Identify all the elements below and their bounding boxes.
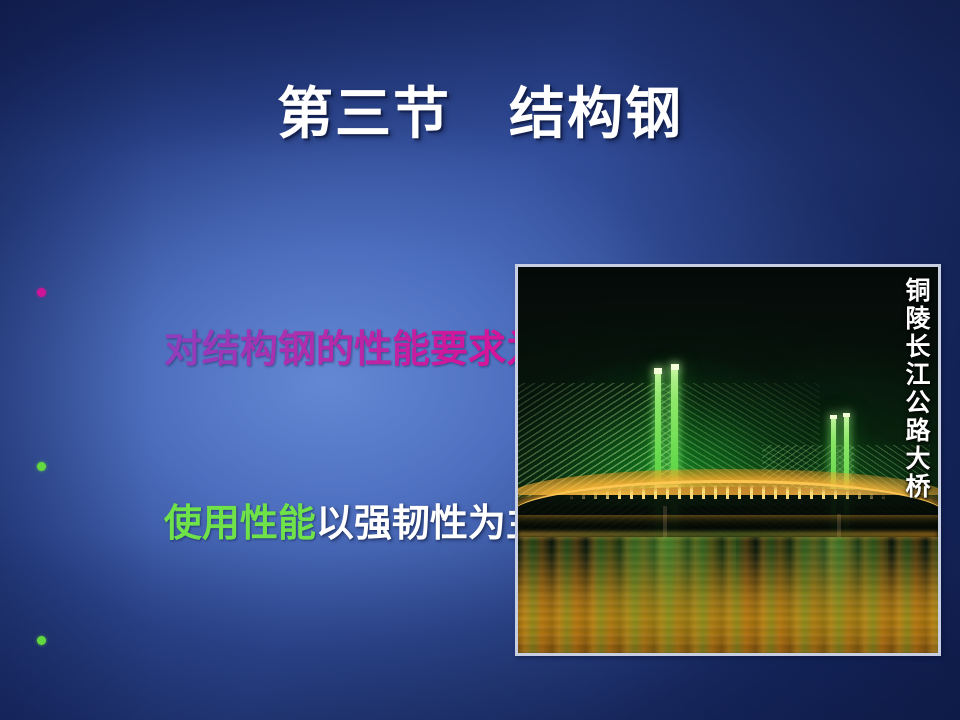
bullet-dot-icon (24, 436, 58, 471)
slide-title: 第三节 结构钢 (0, 82, 960, 146)
water-horizon-line (518, 532, 938, 537)
bullet-list: 对结构钢的性能要求为： 使用性能以强韧性为主。 工艺性能以可焊性、淬透 性为主。… (24, 262, 524, 720)
bullet-text-3: 工艺性能以可焊性、淬透 性为主。 (58, 610, 524, 720)
bridge-photo-frame: 铜陵长江公路大桥 (515, 264, 941, 656)
bullet-item-2: 使用性能以强韧性为主。 (24, 436, 524, 610)
bullet-dot-icon (24, 262, 58, 297)
bullet-item-3: 工艺性能以可焊性、淬透 性为主。 (24, 610, 524, 720)
pylon-beacon-light (843, 413, 850, 417)
bullet-text-1: 对结构钢的性能要求为： (58, 262, 582, 436)
bridge-deck-lighting (518, 460, 938, 537)
pylon-beacon-light (830, 415, 836, 419)
bridge-photo: 铜陵长江公路大桥 (518, 267, 938, 653)
bullet-item-1: 对结构钢的性能要求为： (24, 262, 524, 436)
water-sheen (518, 537, 938, 653)
pylon-beacon-light (671, 364, 679, 369)
bullet-text-2: 使用性能以强韧性为主。 (58, 436, 582, 610)
photo-caption: 铜陵长江公路大桥 (900, 277, 930, 501)
bullet-dot-icon (24, 610, 58, 645)
bullet-2-line-1-segment-1: 使用性能 (164, 500, 316, 545)
presentation-slide: 第三节 结构钢 对结构钢的性能要求为： 使用性能以强韧性为主。 工艺性能以可焊性… (0, 0, 960, 720)
pylon-beacon-light (654, 368, 662, 373)
